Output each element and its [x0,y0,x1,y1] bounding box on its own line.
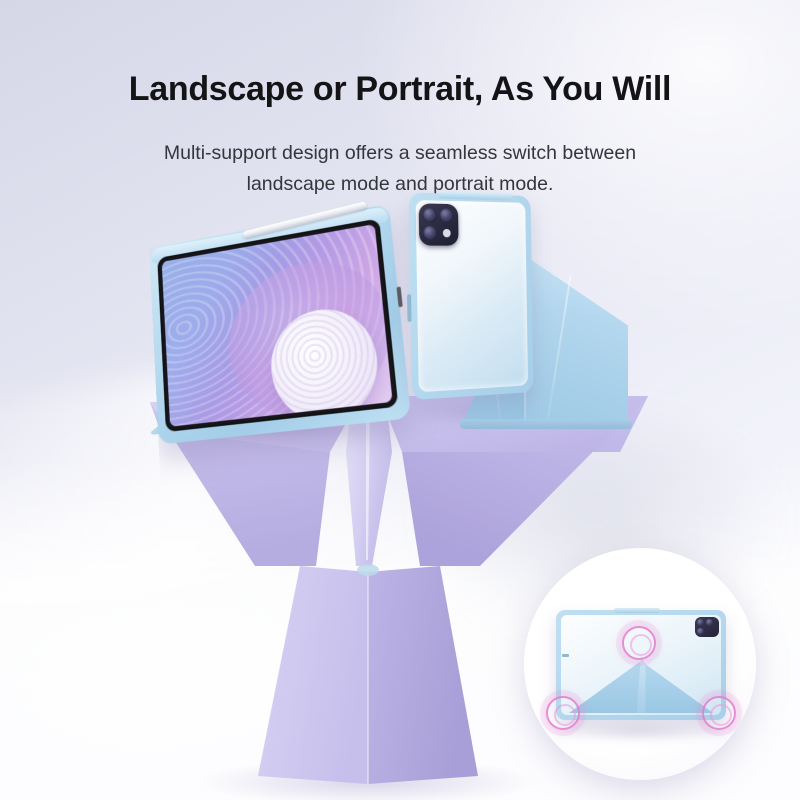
inset-fold-left [569,661,641,713]
pedestal-column-left [258,566,368,784]
portrait-case-frame [408,192,533,400]
inset-camera-module-icon [695,617,719,637]
camera-flash-icon [443,229,451,237]
inset-camera-lens-2 [706,619,713,626]
page-title: Landscape or Portrait, As You Will [0,70,800,109]
pedestal-notch [357,564,379,576]
pedestal-floor-shadow [198,758,538,800]
camera-lens-1 [423,208,437,223]
subtitle-line-2: landscape mode and portrait mode. [0,169,800,200]
pedestal-column-right [368,566,478,784]
portrait-tablet[interactable] [404,196,614,424]
detail-inset-circle [524,548,756,780]
stand-base-edge [460,419,632,429]
magnet-point-top [622,626,656,660]
inset-volume-button [562,654,569,657]
landscape-side-button[interactable] [396,286,402,307]
inset-contact-shadow [552,720,730,742]
subtitle-line-1: Multi-support design offers a seamless s… [0,138,800,169]
inset-stylus-groove [614,608,660,613]
inset-fold-right [641,661,713,713]
pedestal-column-crease [367,572,369,784]
magnet-point-right [702,696,736,730]
portrait-volume-button[interactable] [407,294,411,322]
camera-lens-2 [440,208,454,223]
pedestal-fin-highlight [366,400,370,560]
camera-module-icon [419,203,459,245]
magnet-point-left [546,696,580,730]
inset-camera-lens-3 [697,628,704,635]
landscape-tablet[interactable] [149,204,411,445]
stand-wing-right [524,248,628,424]
inset-camera-lens-1 [697,619,704,626]
camera-lens-3 [423,226,437,241]
portrait-tablet-back [408,192,533,400]
product-banner: Landscape or Portrait, As You Will Multi… [0,0,800,800]
page-subtitle: Multi-support design offers a seamless s… [0,138,800,200]
